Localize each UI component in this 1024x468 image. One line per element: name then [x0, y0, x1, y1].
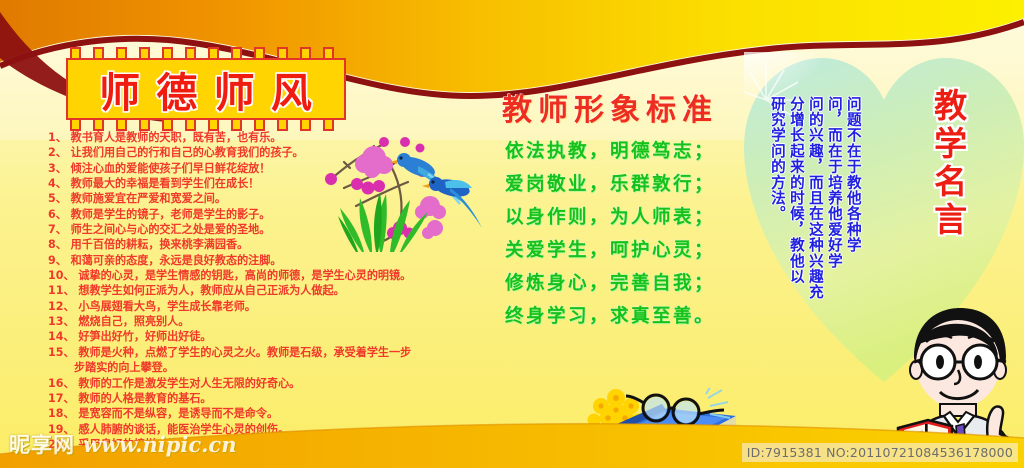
quote-column: 问，而在于培养他爱好学 — [826, 96, 841, 269]
center-panel-title: 教师形象标准 — [455, 85, 765, 129]
list-item: 14、 好笋出好竹，好师出好徒。 — [48, 329, 433, 344]
list-item: 11、 想教学生如何正派为人，教师应从自己正派为人做起。 — [48, 283, 433, 298]
standard-line: 依法执教，明德笃志； — [455, 135, 765, 168]
watermark-site-name: 昵享网 — [6, 428, 78, 460]
list-item-continuation: 步踏实的向上攀登。 — [48, 360, 433, 375]
quote-column: 分增长起来的时候，教他以 — [788, 96, 803, 284]
teaching-quote-columns: 问题不在于教他各种学 问，而在于培养他爱好学 问的兴趣，而且在这种兴趣充 分增长… — [766, 96, 861, 300]
list-item: 13、 燃烧自己，照亮别人。 — [48, 314, 433, 329]
standard-line: 终身学习，求真至善。 — [455, 300, 765, 333]
plaque-title: 师 德 师 风 — [66, 58, 346, 120]
image-id-watermark: ID:7915381 NO:20110721084536178000 — [742, 443, 1018, 462]
list-item: 15、 教师是火种，点燃了学生的心灵之火。教师是石级，承受着学生一步 — [48, 345, 433, 360]
quote-column: 问题不在于教他各种学 — [845, 96, 860, 253]
bird-and-plum-blossom-icon — [300, 132, 485, 262]
poster-canvas: 师 德 师 风 1、 教书育人是教师的天职，既有苦，也有乐。 2、 让我们用自己… — [0, 0, 1024, 468]
list-item: 12、 小鸟展翅看大鸟，学生成长靠老师。 — [48, 299, 433, 314]
teaching-quote-title: 教学名言 — [930, 88, 966, 240]
quote-column: 研究学问的方法。 — [770, 96, 785, 222]
quote-column: 问的兴趣，而且在这种兴趣充 — [807, 96, 822, 300]
standard-line: 关爱学生，呵护心灵； — [455, 234, 765, 267]
standard-line: 修炼身心，完善自我； — [455, 267, 765, 300]
left-title-plaque: 师 德 师 风 — [66, 58, 346, 120]
teacher-image-standard-lines: 依法执教，明德笃志； 爱岗敬业，乐群敦行； 以身作则，为人师表； 关爱学生，呵护… — [455, 135, 765, 333]
site-watermark: 昵享网 www.nipic.cn — [6, 428, 237, 460]
list-item: 16、 教师的工作是激发学生对人生无限的好奇心。 — [48, 376, 433, 391]
watermark-site-url: www.nipic.cn — [83, 432, 237, 457]
standard-line: 以身作则，为人师表； — [455, 201, 765, 234]
list-item: 10、 诚挚的心灵，是学生情感的钥匙，高尚的师德，是学生心灵的明镜。 — [48, 268, 433, 283]
standard-line: 爱岗敬业，乐群敦行； — [455, 168, 765, 201]
plaque-top-teeth — [66, 47, 346, 58]
